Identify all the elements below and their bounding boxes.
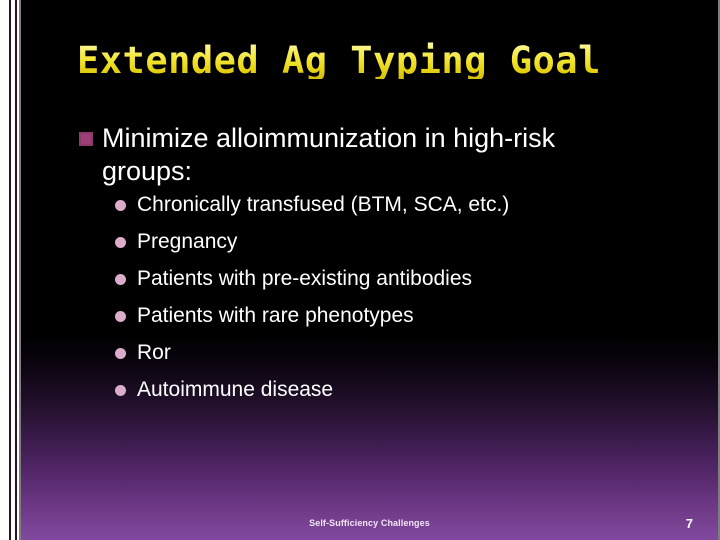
sub-bullet-label: Pregnancy [137,231,237,252]
sub-bullet-item-pregnancy: Pregnancy [115,231,698,252]
sub-bullet-label: Patients with rare phenotypes [137,305,414,326]
sub-bullet-item-autoimmune-disease: Autoimmune disease [115,379,698,400]
sub-bullet-label: Autoimmune disease [137,379,333,400]
round-bullet-icon [115,385,126,396]
sub-bullet-label: Chronically transfused (BTM, SCA, etc.) [137,194,509,215]
sub-bullet-item-ror: Ror [115,342,698,363]
slide-content-area: Extended Ag Typing Goal Minimize alloimm… [21,0,718,540]
sub-bullet-item-pre-existing-antibodies: Patients with pre-existing antibodies [115,268,698,289]
sub-bullet-label: Ror [137,342,171,363]
left-border-rule-inner [15,0,17,540]
left-border-rule-outer [9,0,11,540]
slide-body: Minimize alloimmunization in high-risk g… [79,122,698,416]
round-bullet-icon [115,348,126,359]
slide-canvas: Extended Ag Typing Goal Minimize alloimm… [0,0,720,540]
sub-bullet-label: Patients with pre-existing antibodies [137,268,472,289]
bullet-item-level1-label: Minimize alloimmunization in high-risk g… [102,122,602,188]
round-bullet-icon [115,200,126,211]
round-bullet-icon [115,311,126,322]
bullet-item-level1: Minimize alloimmunization in high-risk g… [79,122,698,188]
round-bullet-icon [115,274,126,285]
round-bullet-icon [115,237,126,248]
sub-bullet-item-chronically-transfused: Chronically transfused (BTM, SCA, etc.) [115,194,698,215]
sub-bullet-list: Chronically transfused (BTM, SCA, etc.) … [115,194,698,400]
sub-bullet-item-rare-phenotypes: Patients with rare phenotypes [115,305,698,326]
slide-page-number: 7 [686,516,693,531]
square-bullet-icon [79,132,93,146]
slide-footer-text: Self-Sufficiency Challenges [21,518,718,528]
slide-title: Extended Ag Typing Goal [77,42,601,79]
